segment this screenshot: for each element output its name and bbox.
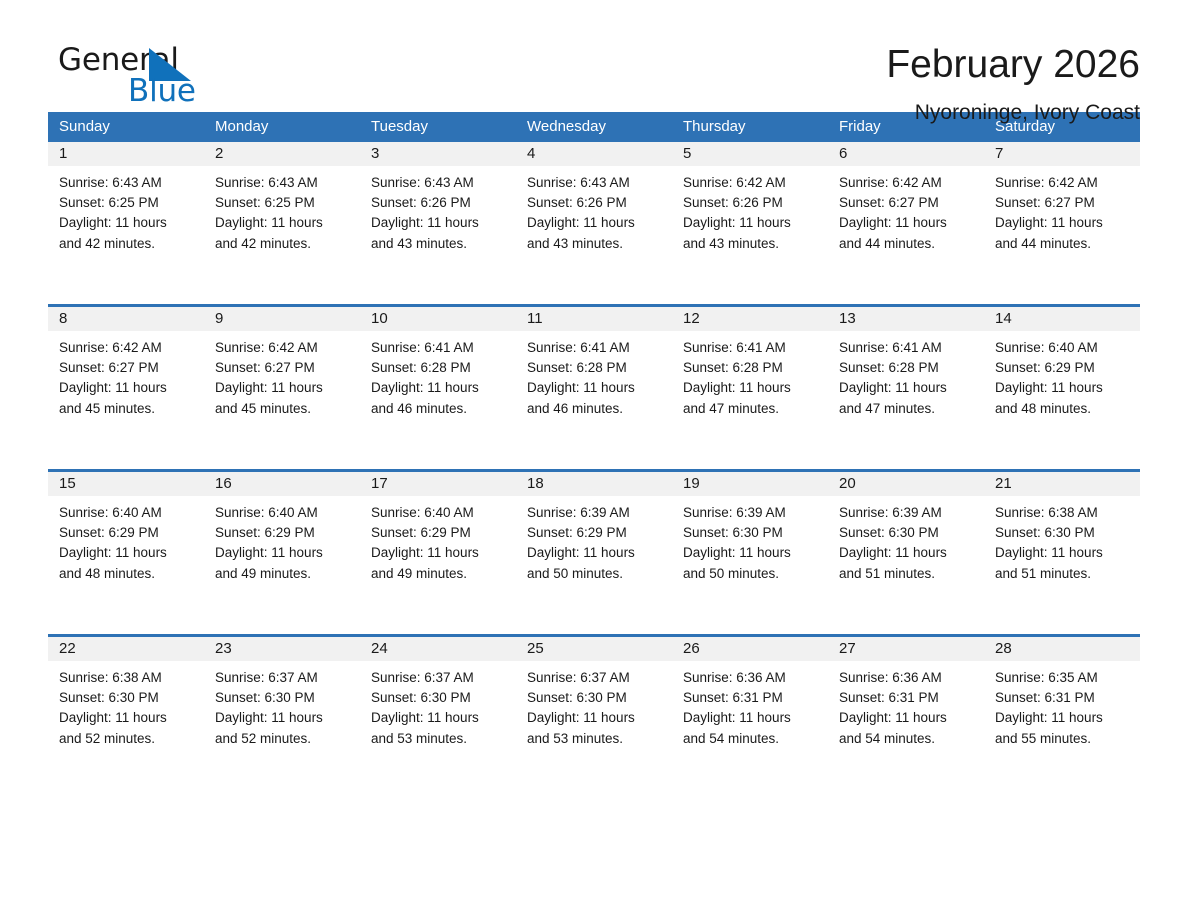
day-details: Sunrise: 6:42 AM Sunset: 6:27 PM Dayligh… bbox=[984, 166, 1140, 254]
day-cell[interactable]: 24 Sunrise: 6:37 AM Sunset: 6:30 PM Dayl… bbox=[360, 637, 516, 799]
day-number: 11 bbox=[516, 307, 672, 331]
daylight-text-line2: and 46 minutes. bbox=[371, 399, 506, 419]
day-details: Sunrise: 6:42 AM Sunset: 6:26 PM Dayligh… bbox=[672, 166, 828, 254]
daylight-text-line2: and 45 minutes. bbox=[215, 399, 350, 419]
sunset-text: Sunset: 6:28 PM bbox=[371, 358, 506, 378]
sunrise-text: Sunrise: 6:42 AM bbox=[59, 338, 194, 358]
daylight-text-line1: Daylight: 11 hours bbox=[995, 213, 1130, 233]
brand-logo[interactable]: General Blue bbox=[48, 42, 278, 112]
daylight-text-line2: and 49 minutes. bbox=[215, 564, 350, 584]
day-number-band: 26 bbox=[672, 637, 828, 661]
day-details: Sunrise: 6:41 AM Sunset: 6:28 PM Dayligh… bbox=[672, 331, 828, 419]
day-details: Sunrise: 6:39 AM Sunset: 6:30 PM Dayligh… bbox=[672, 496, 828, 584]
daylight-text-line2: and 46 minutes. bbox=[527, 399, 662, 419]
sunset-text: Sunset: 6:26 PM bbox=[683, 193, 818, 213]
daylight-text-line2: and 55 minutes. bbox=[995, 729, 1130, 749]
day-number-band: 17 bbox=[360, 472, 516, 496]
day-details: Sunrise: 6:40 AM Sunset: 6:29 PM Dayligh… bbox=[48, 496, 204, 584]
day-number-band: 5 bbox=[672, 142, 828, 166]
day-cell[interactable]: 14 Sunrise: 6:40 AM Sunset: 6:29 PM Dayl… bbox=[984, 307, 1140, 469]
day-number-band: 8 bbox=[48, 307, 204, 331]
daylight-text-line2: and 44 minutes. bbox=[839, 234, 974, 254]
day-number: 23 bbox=[204, 637, 360, 661]
sunrise-text: Sunrise: 6:36 AM bbox=[683, 668, 818, 688]
weekday-monday: Monday bbox=[204, 112, 360, 142]
daylight-text-line2: and 47 minutes. bbox=[683, 399, 818, 419]
day-number-band: 15 bbox=[48, 472, 204, 496]
sunrise-text: Sunrise: 6:37 AM bbox=[527, 668, 662, 688]
day-number: 24 bbox=[360, 637, 516, 661]
daylight-text-line1: Daylight: 11 hours bbox=[59, 378, 194, 398]
day-number-band: 25 bbox=[516, 637, 672, 661]
day-number: 17 bbox=[360, 472, 516, 496]
day-number: 22 bbox=[48, 637, 204, 661]
sunrise-text: Sunrise: 6:43 AM bbox=[527, 173, 662, 193]
daylight-text-line2: and 43 minutes. bbox=[683, 234, 818, 254]
day-number-band: 24 bbox=[360, 637, 516, 661]
daylight-text-line1: Daylight: 11 hours bbox=[215, 543, 350, 563]
sunset-text: Sunset: 6:26 PM bbox=[527, 193, 662, 213]
day-number: 2 bbox=[204, 142, 360, 166]
day-number-band: 21 bbox=[984, 472, 1140, 496]
sunrise-text: Sunrise: 6:35 AM bbox=[995, 668, 1130, 688]
sunset-text: Sunset: 6:31 PM bbox=[995, 688, 1130, 708]
sunrise-text: Sunrise: 6:41 AM bbox=[527, 338, 662, 358]
day-cell[interactable]: 4 Sunrise: 6:43 AM Sunset: 6:26 PM Dayli… bbox=[516, 142, 672, 304]
day-details: Sunrise: 6:43 AM Sunset: 6:25 PM Dayligh… bbox=[48, 166, 204, 254]
daylight-text-line2: and 45 minutes. bbox=[59, 399, 194, 419]
day-details: Sunrise: 6:41 AM Sunset: 6:28 PM Dayligh… bbox=[828, 331, 984, 419]
sunset-text: Sunset: 6:30 PM bbox=[371, 688, 506, 708]
day-cell[interactable]: 10 Sunrise: 6:41 AM Sunset: 6:28 PM Dayl… bbox=[360, 307, 516, 469]
sunset-text: Sunset: 6:30 PM bbox=[59, 688, 194, 708]
sunrise-text: Sunrise: 6:40 AM bbox=[59, 503, 194, 523]
day-number-band: 12 bbox=[672, 307, 828, 331]
day-cell[interactable]: 9 Sunrise: 6:42 AM Sunset: 6:27 PM Dayli… bbox=[204, 307, 360, 469]
sunset-text: Sunset: 6:25 PM bbox=[215, 193, 350, 213]
daylight-text-line1: Daylight: 11 hours bbox=[371, 708, 506, 728]
week-row: 15 Sunrise: 6:40 AM Sunset: 6:29 PM Dayl… bbox=[48, 469, 1140, 634]
brand-name-blue: Blue bbox=[128, 73, 196, 109]
sunrise-text: Sunrise: 6:43 AM bbox=[59, 173, 194, 193]
sunrise-text: Sunrise: 6:38 AM bbox=[995, 503, 1130, 523]
sunrise-text: Sunrise: 6:36 AM bbox=[839, 668, 974, 688]
day-details: Sunrise: 6:37 AM Sunset: 6:30 PM Dayligh… bbox=[360, 661, 516, 749]
sunrise-text: Sunrise: 6:41 AM bbox=[371, 338, 506, 358]
daylight-text-line2: and 43 minutes. bbox=[371, 234, 506, 254]
day-number-band: 16 bbox=[204, 472, 360, 496]
daylight-text-line2: and 54 minutes. bbox=[683, 729, 818, 749]
day-details: Sunrise: 6:36 AM Sunset: 6:31 PM Dayligh… bbox=[828, 661, 984, 749]
daylight-text-line2: and 53 minutes. bbox=[371, 729, 506, 749]
sunset-text: Sunset: 6:27 PM bbox=[215, 358, 350, 378]
daylight-text-line2: and 42 minutes. bbox=[215, 234, 350, 254]
weekday-tuesday: Tuesday bbox=[360, 112, 516, 142]
daylight-text-line2: and 47 minutes. bbox=[839, 399, 974, 419]
daylight-text-line2: and 52 minutes. bbox=[59, 729, 194, 749]
day-details: Sunrise: 6:36 AM Sunset: 6:31 PM Dayligh… bbox=[672, 661, 828, 749]
day-details: Sunrise: 6:39 AM Sunset: 6:30 PM Dayligh… bbox=[828, 496, 984, 584]
daylight-text-line1: Daylight: 11 hours bbox=[839, 543, 974, 563]
page-header: General Blue February 2026 Nyoroninge, I… bbox=[48, 0, 1140, 112]
day-cell[interactable]: 8 Sunrise: 6:42 AM Sunset: 6:27 PM Dayli… bbox=[48, 307, 204, 469]
week-row: 8 Sunrise: 6:42 AM Sunset: 6:27 PM Dayli… bbox=[48, 304, 1140, 469]
daylight-text-line1: Daylight: 11 hours bbox=[59, 708, 194, 728]
day-number-band: 6 bbox=[828, 142, 984, 166]
daylight-text-line1: Daylight: 11 hours bbox=[527, 378, 662, 398]
day-number: 26 bbox=[672, 637, 828, 661]
sunrise-text: Sunrise: 6:42 AM bbox=[995, 173, 1130, 193]
sunrise-text: Sunrise: 6:42 AM bbox=[839, 173, 974, 193]
daylight-text-line1: Daylight: 11 hours bbox=[839, 378, 974, 398]
day-number-band: 19 bbox=[672, 472, 828, 496]
day-number-band: 18 bbox=[516, 472, 672, 496]
daylight-text-line2: and 51 minutes. bbox=[839, 564, 974, 584]
day-number-band: 14 bbox=[984, 307, 1140, 331]
day-number: 15 bbox=[48, 472, 204, 496]
title-block: February 2026 Nyoroninge, Ivory Coast bbox=[886, 42, 1140, 126]
day-number: 9 bbox=[204, 307, 360, 331]
day-cell[interactable]: 23 Sunrise: 6:37 AM Sunset: 6:30 PM Dayl… bbox=[204, 637, 360, 799]
day-number-band: 1 bbox=[48, 142, 204, 166]
day-cell[interactable]: 21 Sunrise: 6:38 AM Sunset: 6:30 PM Dayl… bbox=[984, 472, 1140, 634]
day-number: 25 bbox=[516, 637, 672, 661]
day-cell[interactable]: 1 Sunrise: 6:43 AM Sunset: 6:25 PM Dayli… bbox=[48, 142, 204, 304]
day-number: 10 bbox=[360, 307, 516, 331]
day-details: Sunrise: 6:42 AM Sunset: 6:27 PM Dayligh… bbox=[48, 331, 204, 419]
day-number: 16 bbox=[204, 472, 360, 496]
daylight-text-line1: Daylight: 11 hours bbox=[215, 378, 350, 398]
daylight-text-line2: and 50 minutes. bbox=[683, 564, 818, 584]
daylight-text-line2: and 44 minutes. bbox=[995, 234, 1130, 254]
sunset-text: Sunset: 6:29 PM bbox=[59, 523, 194, 543]
weekday-wednesday: Wednesday bbox=[516, 112, 672, 142]
daylight-text-line1: Daylight: 11 hours bbox=[683, 708, 818, 728]
sunrise-text: Sunrise: 6:40 AM bbox=[995, 338, 1130, 358]
day-cell[interactable]: 25 Sunrise: 6:37 AM Sunset: 6:30 PM Dayl… bbox=[516, 637, 672, 799]
day-details: Sunrise: 6:43 AM Sunset: 6:26 PM Dayligh… bbox=[516, 166, 672, 254]
daylight-text-line1: Daylight: 11 hours bbox=[371, 213, 506, 233]
day-details: Sunrise: 6:43 AM Sunset: 6:25 PM Dayligh… bbox=[204, 166, 360, 254]
day-number-band: 28 bbox=[984, 637, 1140, 661]
daylight-text-line1: Daylight: 11 hours bbox=[683, 378, 818, 398]
day-cell[interactable]: 27 Sunrise: 6:36 AM Sunset: 6:31 PM Dayl… bbox=[828, 637, 984, 799]
daylight-text-line1: Daylight: 11 hours bbox=[839, 213, 974, 233]
daylight-text-line2: and 49 minutes. bbox=[371, 564, 506, 584]
daylight-text-line2: and 50 minutes. bbox=[527, 564, 662, 584]
sunrise-text: Sunrise: 6:37 AM bbox=[215, 668, 350, 688]
page-subtitle: Nyoroninge, Ivory Coast bbox=[886, 100, 1140, 126]
day-details: Sunrise: 6:37 AM Sunset: 6:30 PM Dayligh… bbox=[204, 661, 360, 749]
daylight-text-line1: Daylight: 11 hours bbox=[995, 378, 1130, 398]
day-number: 28 bbox=[984, 637, 1140, 661]
daylight-text-line2: and 48 minutes. bbox=[995, 399, 1130, 419]
calendar-grid: Sunday Monday Tuesday Wednesday Thursday… bbox=[48, 112, 1140, 799]
sunset-text: Sunset: 6:27 PM bbox=[995, 193, 1130, 213]
daylight-text-line1: Daylight: 11 hours bbox=[995, 543, 1130, 563]
day-cell[interactable]: 12 Sunrise: 6:41 AM Sunset: 6:28 PM Dayl… bbox=[672, 307, 828, 469]
daylight-text-line1: Daylight: 11 hours bbox=[59, 213, 194, 233]
sunrise-text: Sunrise: 6:40 AM bbox=[371, 503, 506, 523]
day-details: Sunrise: 6:40 AM Sunset: 6:29 PM Dayligh… bbox=[204, 496, 360, 584]
sunset-text: Sunset: 6:30 PM bbox=[839, 523, 974, 543]
sunset-text: Sunset: 6:29 PM bbox=[995, 358, 1130, 378]
day-number: 5 bbox=[672, 142, 828, 166]
sunset-text: Sunset: 6:30 PM bbox=[215, 688, 350, 708]
day-number-band: 9 bbox=[204, 307, 360, 331]
sunrise-text: Sunrise: 6:38 AM bbox=[59, 668, 194, 688]
daylight-text-line1: Daylight: 11 hours bbox=[371, 378, 506, 398]
day-details: Sunrise: 6:35 AM Sunset: 6:31 PM Dayligh… bbox=[984, 661, 1140, 749]
day-number-band: 23 bbox=[204, 637, 360, 661]
sunset-text: Sunset: 6:27 PM bbox=[839, 193, 974, 213]
sunset-text: Sunset: 6:30 PM bbox=[527, 688, 662, 708]
day-details: Sunrise: 6:43 AM Sunset: 6:26 PM Dayligh… bbox=[360, 166, 516, 254]
day-number: 6 bbox=[828, 142, 984, 166]
sunset-text: Sunset: 6:28 PM bbox=[839, 358, 974, 378]
day-number: 21 bbox=[984, 472, 1140, 496]
day-number-band: 22 bbox=[48, 637, 204, 661]
daylight-text-line2: and 43 minutes. bbox=[527, 234, 662, 254]
daylight-text-line1: Daylight: 11 hours bbox=[839, 708, 974, 728]
daylight-text-line1: Daylight: 11 hours bbox=[527, 543, 662, 563]
day-number-band: 2 bbox=[204, 142, 360, 166]
sunset-text: Sunset: 6:31 PM bbox=[683, 688, 818, 708]
daylight-text-line1: Daylight: 11 hours bbox=[683, 213, 818, 233]
day-cell[interactable]: 18 Sunrise: 6:39 AM Sunset: 6:29 PM Dayl… bbox=[516, 472, 672, 634]
day-cell[interactable]: 19 Sunrise: 6:39 AM Sunset: 6:30 PM Dayl… bbox=[672, 472, 828, 634]
daylight-text-line2: and 53 minutes. bbox=[527, 729, 662, 749]
daylight-text-line2: and 42 minutes. bbox=[59, 234, 194, 254]
day-details: Sunrise: 6:42 AM Sunset: 6:27 PM Dayligh… bbox=[204, 331, 360, 419]
daylight-text-line1: Daylight: 11 hours bbox=[527, 213, 662, 233]
day-details: Sunrise: 6:39 AM Sunset: 6:29 PM Dayligh… bbox=[516, 496, 672, 584]
day-number: 13 bbox=[828, 307, 984, 331]
day-details: Sunrise: 6:41 AM Sunset: 6:28 PM Dayligh… bbox=[360, 331, 516, 419]
day-number-band: 27 bbox=[828, 637, 984, 661]
day-number: 1 bbox=[48, 142, 204, 166]
week-row: 22 Sunrise: 6:38 AM Sunset: 6:30 PM Dayl… bbox=[48, 634, 1140, 799]
day-cell[interactable]: 6 Sunrise: 6:42 AM Sunset: 6:27 PM Dayli… bbox=[828, 142, 984, 304]
daylight-text-line1: Daylight: 11 hours bbox=[683, 543, 818, 563]
daylight-text-line2: and 48 minutes. bbox=[59, 564, 194, 584]
daylight-text-line2: and 52 minutes. bbox=[215, 729, 350, 749]
sunrise-text: Sunrise: 6:42 AM bbox=[683, 173, 818, 193]
sunset-text: Sunset: 6:28 PM bbox=[683, 358, 818, 378]
sunrise-text: Sunrise: 6:39 AM bbox=[527, 503, 662, 523]
sunset-text: Sunset: 6:29 PM bbox=[371, 523, 506, 543]
day-number: 7 bbox=[984, 142, 1140, 166]
sunset-text: Sunset: 6:30 PM bbox=[995, 523, 1130, 543]
sunset-text: Sunset: 6:25 PM bbox=[59, 193, 194, 213]
day-number-band: 3 bbox=[360, 142, 516, 166]
sunrise-text: Sunrise: 6:39 AM bbox=[683, 503, 818, 523]
day-details: Sunrise: 6:40 AM Sunset: 6:29 PM Dayligh… bbox=[984, 331, 1140, 419]
day-cell[interactable]: 17 Sunrise: 6:40 AM Sunset: 6:29 PM Dayl… bbox=[360, 472, 516, 634]
day-details: Sunrise: 6:42 AM Sunset: 6:27 PM Dayligh… bbox=[828, 166, 984, 254]
day-cell[interactable]: 20 Sunrise: 6:39 AM Sunset: 6:30 PM Dayl… bbox=[828, 472, 984, 634]
day-number: 12 bbox=[672, 307, 828, 331]
day-cell[interactable]: 22 Sunrise: 6:38 AM Sunset: 6:30 PM Dayl… bbox=[48, 637, 204, 799]
weekday-sunday: Sunday bbox=[48, 112, 204, 142]
daylight-text-line1: Daylight: 11 hours bbox=[995, 708, 1130, 728]
day-number-band: 13 bbox=[828, 307, 984, 331]
day-number: 14 bbox=[984, 307, 1140, 331]
day-cell[interactable]: 2 Sunrise: 6:43 AM Sunset: 6:25 PM Dayli… bbox=[204, 142, 360, 304]
day-details: Sunrise: 6:41 AM Sunset: 6:28 PM Dayligh… bbox=[516, 331, 672, 419]
sunrise-text: Sunrise: 6:42 AM bbox=[215, 338, 350, 358]
daylight-text-line2: and 51 minutes. bbox=[995, 564, 1130, 584]
day-cell[interactable]: 3 Sunrise: 6:43 AM Sunset: 6:26 PM Dayli… bbox=[360, 142, 516, 304]
sunrise-text: Sunrise: 6:43 AM bbox=[215, 173, 350, 193]
page-title: February 2026 bbox=[886, 42, 1140, 88]
day-cell[interactable]: 28 Sunrise: 6:35 AM Sunset: 6:31 PM Dayl… bbox=[984, 637, 1140, 799]
day-details: Sunrise: 6:38 AM Sunset: 6:30 PM Dayligh… bbox=[48, 661, 204, 749]
week-row: 1 Sunrise: 6:43 AM Sunset: 6:25 PM Dayli… bbox=[48, 142, 1140, 304]
day-details: Sunrise: 6:40 AM Sunset: 6:29 PM Dayligh… bbox=[360, 496, 516, 584]
daylight-text-line1: Daylight: 11 hours bbox=[215, 708, 350, 728]
day-cell[interactable]: 11 Sunrise: 6:41 AM Sunset: 6:28 PM Dayl… bbox=[516, 307, 672, 469]
day-number-band: 11 bbox=[516, 307, 672, 331]
sunrise-text: Sunrise: 6:40 AM bbox=[215, 503, 350, 523]
sunset-text: Sunset: 6:29 PM bbox=[215, 523, 350, 543]
day-number-band: 20 bbox=[828, 472, 984, 496]
day-cell[interactable]: 16 Sunrise: 6:40 AM Sunset: 6:29 PM Dayl… bbox=[204, 472, 360, 634]
day-cell[interactable]: 26 Sunrise: 6:36 AM Sunset: 6:31 PM Dayl… bbox=[672, 637, 828, 799]
day-number: 4 bbox=[516, 142, 672, 166]
sunset-text: Sunset: 6:29 PM bbox=[527, 523, 662, 543]
day-cell[interactable]: 7 Sunrise: 6:42 AM Sunset: 6:27 PM Dayli… bbox=[984, 142, 1140, 304]
sunrise-text: Sunrise: 6:41 AM bbox=[683, 338, 818, 358]
day-details: Sunrise: 6:37 AM Sunset: 6:30 PM Dayligh… bbox=[516, 661, 672, 749]
sunset-text: Sunset: 6:26 PM bbox=[371, 193, 506, 213]
daylight-text-line1: Daylight: 11 hours bbox=[59, 543, 194, 563]
day-cell[interactable]: 13 Sunrise: 6:41 AM Sunset: 6:28 PM Dayl… bbox=[828, 307, 984, 469]
daylight-text-line1: Daylight: 11 hours bbox=[371, 543, 506, 563]
sunset-text: Sunset: 6:28 PM bbox=[527, 358, 662, 378]
daylight-text-line1: Daylight: 11 hours bbox=[215, 213, 350, 233]
day-cell[interactable]: 15 Sunrise: 6:40 AM Sunset: 6:29 PM Dayl… bbox=[48, 472, 204, 634]
weekday-thursday: Thursday bbox=[672, 112, 828, 142]
sunrise-text: Sunrise: 6:39 AM bbox=[839, 503, 974, 523]
calendar-page: General Blue February 2026 Nyoroninge, I… bbox=[0, 0, 1188, 918]
day-number: 19 bbox=[672, 472, 828, 496]
sunrise-text: Sunrise: 6:43 AM bbox=[371, 173, 506, 193]
day-cell[interactable]: 5 Sunrise: 6:42 AM Sunset: 6:26 PM Dayli… bbox=[672, 142, 828, 304]
day-number: 18 bbox=[516, 472, 672, 496]
day-number: 20 bbox=[828, 472, 984, 496]
daylight-text-line1: Daylight: 11 hours bbox=[527, 708, 662, 728]
sunset-text: Sunset: 6:27 PM bbox=[59, 358, 194, 378]
day-number-band: 7 bbox=[984, 142, 1140, 166]
daylight-text-line2: and 54 minutes. bbox=[839, 729, 974, 749]
sunset-text: Sunset: 6:30 PM bbox=[683, 523, 818, 543]
day-number: 8 bbox=[48, 307, 204, 331]
day-number: 27 bbox=[828, 637, 984, 661]
sunset-text: Sunset: 6:31 PM bbox=[839, 688, 974, 708]
day-number-band: 10 bbox=[360, 307, 516, 331]
day-number: 3 bbox=[360, 142, 516, 166]
sunrise-text: Sunrise: 6:41 AM bbox=[839, 338, 974, 358]
day-number-band: 4 bbox=[516, 142, 672, 166]
day-details: Sunrise: 6:38 AM Sunset: 6:30 PM Dayligh… bbox=[984, 496, 1140, 584]
sunrise-text: Sunrise: 6:37 AM bbox=[371, 668, 506, 688]
